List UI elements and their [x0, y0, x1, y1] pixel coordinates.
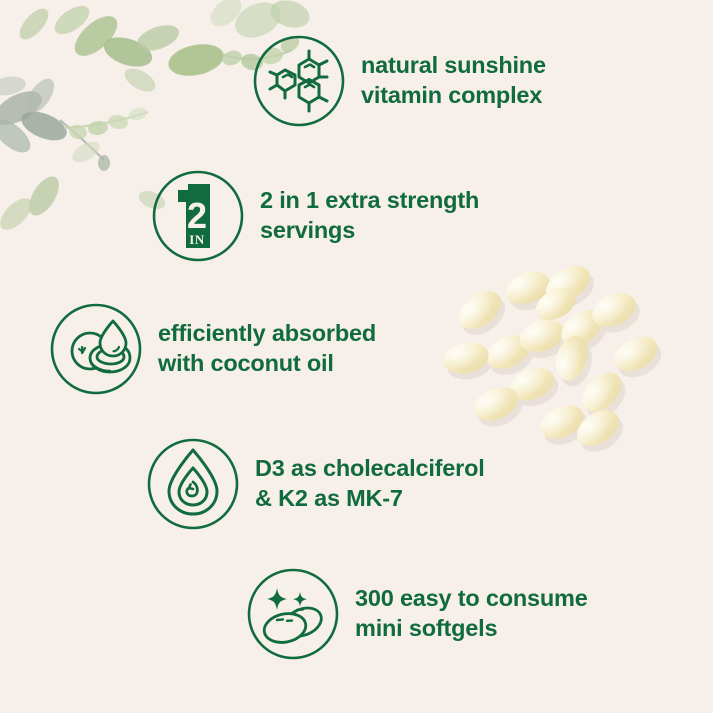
feature-row-coconut-oil: efficiently absorbed with coconut oil	[50, 303, 376, 395]
softgel-capsule-pile	[440, 238, 713, 463]
badge-number: 2	[187, 195, 207, 236]
feature-row-mini-softgels: 300 easy to consume mini softgels	[247, 568, 588, 660]
feature-row-natural-sunshine: natural sunshine vitamin complex	[253, 35, 546, 127]
two-in-one-badge-icon: 2 IN	[152, 170, 244, 262]
feature-label: natural sunshine vitamin complex	[361, 51, 546, 110]
molecule-hexagons-icon	[253, 35, 345, 127]
feature-row-d3-k2: D3 as cholecalciferol & K2 as MK-7	[147, 438, 485, 530]
feature-label: 300 easy to consume mini softgels	[355, 584, 588, 643]
feature-row-two-in-one: 2 IN 2 in 1 extra strength servings	[152, 170, 479, 262]
feature-label: D3 as cholecalciferol & K2 as MK-7	[255, 454, 485, 513]
coconut-oil-droplet-icon	[50, 303, 142, 395]
sparkle-shapes	[267, 588, 307, 610]
sparkling-softgels-icon	[247, 568, 339, 660]
droplet-spiral-icon	[147, 438, 239, 530]
badge-in-label: IN	[189, 232, 205, 247]
feature-label: efficiently absorbed with coconut oil	[158, 319, 376, 378]
product-feature-infographic: natural sunshine vitamin complex 2 IN 2 …	[0, 0, 713, 713]
feature-label: 2 in 1 extra strength servings	[260, 186, 479, 245]
